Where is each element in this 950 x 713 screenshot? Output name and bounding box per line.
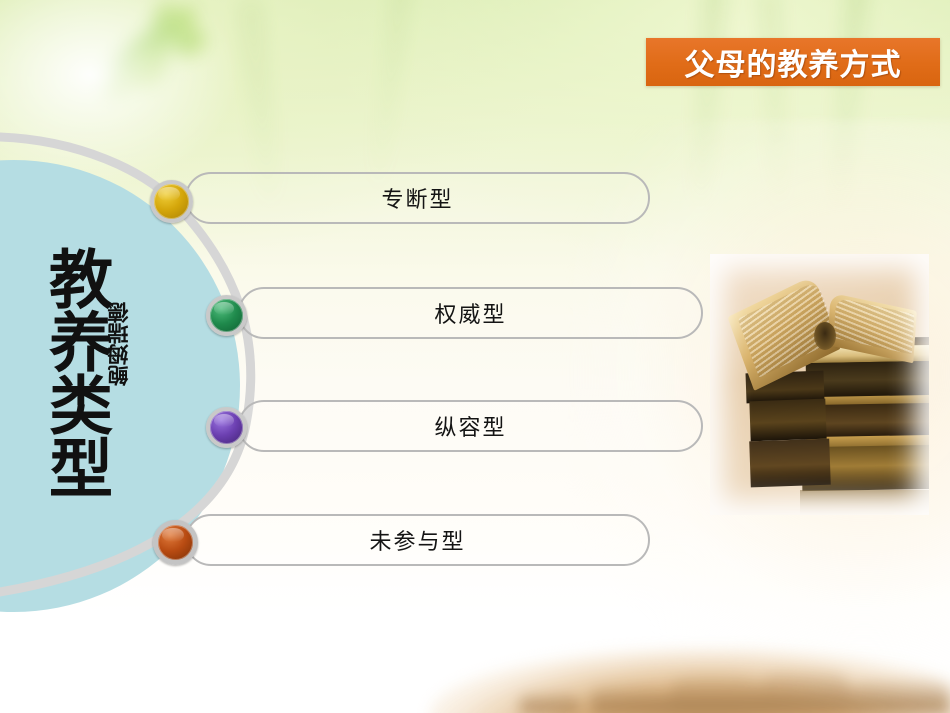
panel-headline: 教养类型 [24,246,106,498]
slide-title-banner: 父母的教养方式 [646,38,940,86]
bullet-icon-1[interactable] [150,180,193,223]
type-label-1: 专断型 [381,182,453,214]
type-pill-3[interactable]: 纵容型 [238,400,703,452]
bullet-icon-4[interactable] [153,520,198,565]
type-label-2: 权威型 [434,297,506,329]
type-pill-1[interactable]: 专断型 [185,172,650,224]
page-title: 父母的教养方式 [685,40,902,84]
type-label-3: 纵容型 [434,410,506,442]
type-pill-2[interactable]: 权威型 [238,287,703,339]
type-label-4: 未参与型 [369,524,465,556]
panel-subhead: 鲍姆瑞德 [104,302,134,386]
bullet-icon-2[interactable] [206,295,247,336]
slide-canvas: 教养类型 鲍姆瑞德 专断型 权威型 纵容型 未参与型 父母的教养方式 [0,0,950,713]
type-pill-4[interactable]: 未参与型 [185,514,650,566]
stack-of-old-books-photo [710,254,929,515]
bullet-icon-3[interactable] [206,407,247,448]
